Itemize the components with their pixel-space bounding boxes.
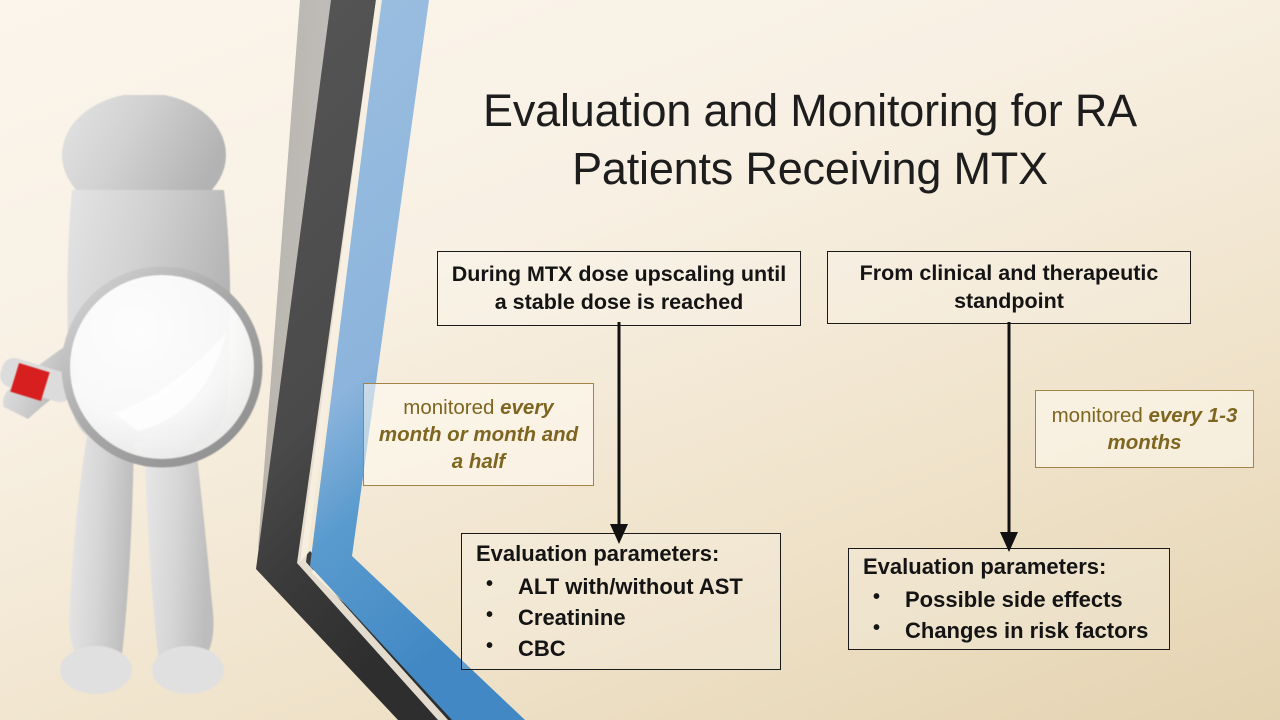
list-item-label: Creatinine xyxy=(518,605,626,630)
list-item-label: Changes in risk factors xyxy=(905,618,1148,643)
note-box-right: monitored every 1-3 months xyxy=(1035,390,1254,468)
list-item: •Changes in risk factors xyxy=(863,616,1169,645)
bullet-icon: • xyxy=(486,571,493,598)
bullet-icon: • xyxy=(873,615,880,642)
list-item: •CBC xyxy=(476,634,780,663)
note-left-lead: monitored xyxy=(403,396,500,419)
list-item: •ALT with/without AST xyxy=(476,572,780,601)
eval-left-list: •ALT with/without AST •Creatinine •CBC xyxy=(476,570,780,664)
list-item-label: Possible side effects xyxy=(905,587,1123,612)
eval-box-left: Evaluation parameters: •ALT with/without… xyxy=(461,533,781,670)
arrow-right-column xyxy=(986,322,1032,554)
list-item-label: ALT with/without AST xyxy=(518,574,743,599)
eval-box-right: Evaluation parameters: •Possible side ef… xyxy=(848,548,1170,650)
list-item: •Possible side effects xyxy=(863,585,1169,614)
list-item: •Creatinine xyxy=(476,603,780,632)
list-item-label: CBC xyxy=(518,636,566,661)
page-title: Evaluation and Monitoring for RA Patient… xyxy=(405,82,1215,197)
note-right-lead: monitored xyxy=(1052,404,1149,427)
bullet-icon: • xyxy=(486,633,493,660)
note-box-left: monitored every month or month and a hal… xyxy=(363,383,594,486)
bullet-icon: • xyxy=(486,602,493,629)
note-left-text: monitored every month or month and a hal… xyxy=(376,394,581,475)
eval-right-list: •Possible side effects •Changes in risk … xyxy=(863,583,1169,646)
bullet-icon: • xyxy=(873,584,880,611)
header-box-left: During MTX dose upscaling until a stable… xyxy=(437,251,801,326)
arrow-left-column xyxy=(596,322,642,546)
header-box-right: From clinical and therapeutic standpoint xyxy=(827,251,1191,324)
eval-right-heading: Evaluation parameters: xyxy=(863,552,1169,581)
note-right-text: monitored every 1-3 months xyxy=(1048,402,1241,456)
